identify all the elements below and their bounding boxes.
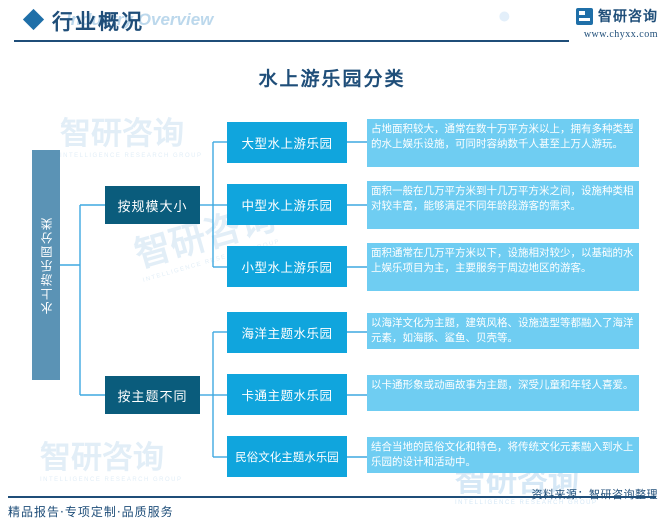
branch-node-by-scale[interactable]: 按规模大小: [105, 186, 200, 224]
description-large-park: 占地面积较大，通常在数十万平方米以上，拥有多种类型的水上娱乐设施，可同时容纳数千…: [367, 119, 639, 167]
leaf-node-cartoon-theme[interactable]: 卡通主题水乐园: [227, 374, 347, 415]
page-header: Industry Overview 行业概况 智研咨询 www.chyxx.co…: [0, 0, 664, 48]
leaf-node-folk-culture-theme[interactable]: 民俗文化主题水乐园: [227, 436, 347, 477]
brand-mark-icon: [576, 8, 593, 25]
brand-logo: 智研咨询 www.chyxx.com: [576, 6, 658, 40]
leaf-node-ocean-theme[interactable]: 海洋主题水乐园: [227, 312, 347, 353]
brand-url: www.chyxx.com: [576, 29, 658, 40]
root-node-label: 水上游乐园分类: [38, 216, 55, 314]
header-divider: [14, 40, 569, 42]
leaf-node-small-park[interactable]: 小型水上游乐园: [227, 246, 347, 287]
description-cartoon-theme: 以卡通形象或动画故事为主题，深受儿童和年轻人喜爱。: [367, 375, 639, 411]
description-small-park: 面积通常在几万平方米以下，设施相对较少，以基础的水上娱乐项目为主，主要服务于周边…: [367, 243, 639, 291]
description-folk-culture-theme: 结合当地的民俗文化和特色，将传统文化元素融入到水上乐园的设计和活动中。: [367, 437, 639, 473]
leaf-node-medium-park[interactable]: 中型水上游乐园: [227, 184, 347, 225]
footer-slogan: 精品报告·专项定制·品质服务: [8, 503, 174, 520]
description-medium-park: 面积一般在几万平方米到十几万平方米之间，设施种类相对较丰富，能够满足不同年龄段游…: [367, 181, 639, 229]
page-title: 水上游乐园分类: [0, 64, 664, 91]
description-ocean-theme: 以海洋文化为主题，建筑风格、设施造型等都融入了海洋元素，如海豚、鲨鱼、贝壳等。: [367, 313, 639, 349]
slide-page: 智研咨询 INTELLIGENCE RESEARCH GROUP 智研咨询 IN…: [0, 0, 664, 526]
header-title: 行业概况: [52, 6, 144, 36]
leaf-node-large-park[interactable]: 大型水上游乐园: [227, 122, 347, 163]
footer-source: 资料来源：智研咨询整理: [532, 486, 659, 502]
root-node[interactable]: 水上游乐园分类: [32, 150, 60, 380]
diamond-icon: [23, 9, 44, 30]
branch-node-by-theme[interactable]: 按主题不同: [105, 376, 200, 414]
brand-name: 智研咨询: [598, 6, 658, 26]
